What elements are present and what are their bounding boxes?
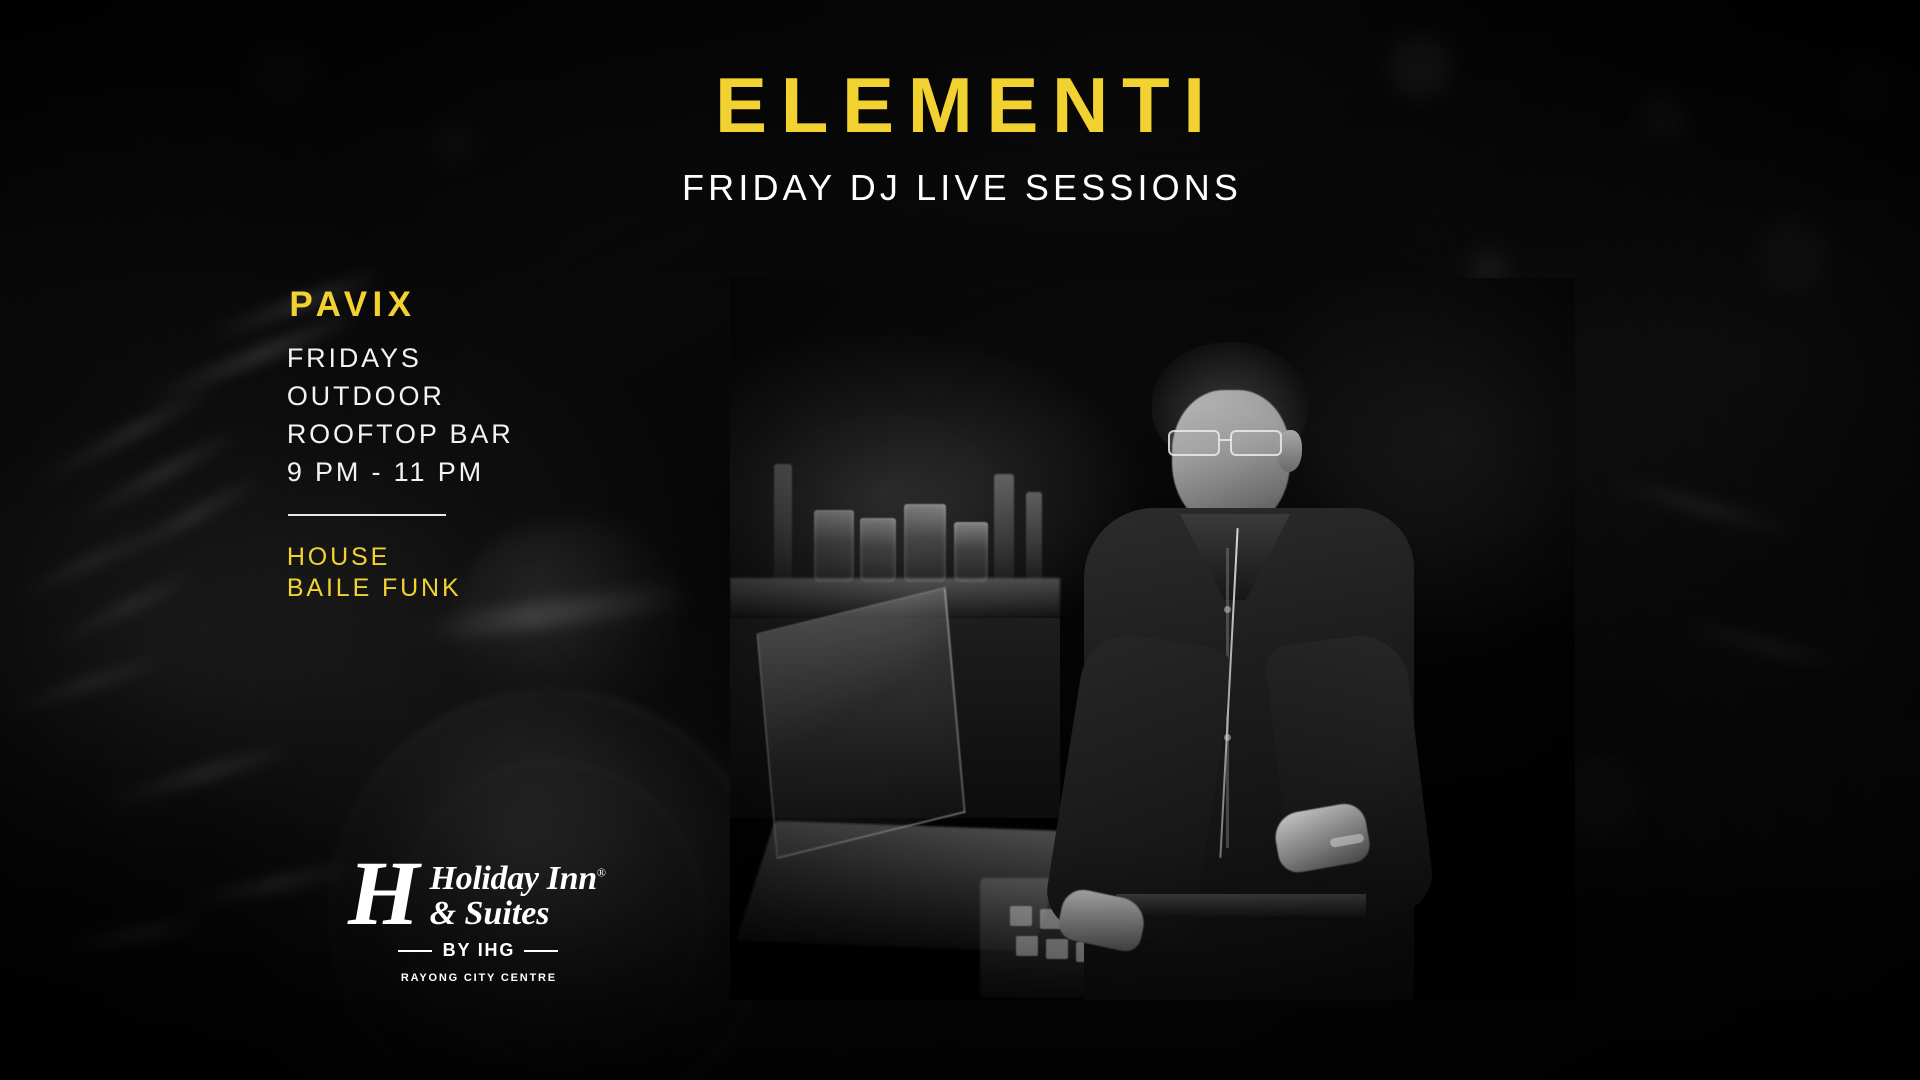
page-subtitle: FRIDAY DJ LIVE SESSIONS: [0, 170, 1920, 206]
list-item: 9 PM - 11 PM: [284, 457, 514, 489]
logo-rule-right: [524, 950, 558, 952]
list-item: OUTDOOR: [284, 381, 514, 413]
dj-photo: [730, 278, 1575, 1000]
property-location-label: RAYONG CITY CENTRE: [348, 972, 608, 984]
section-divider: [288, 514, 446, 516]
logo-brand-name: Holiday Inn: [430, 860, 597, 897]
poster-header: ELEMENTI FRIDAY DJ LIVE SESSIONS: [0, 66, 1920, 206]
music-genre-list: HOUSE BAILE FUNK: [284, 542, 514, 603]
artist-name: PAVIX: [284, 287, 514, 322]
event-info-block: PAVIX FRIDAYS OUTDOOR ROOFTOP BAR 9 PM -…: [284, 287, 514, 603]
holiday-inn-logo: H Holiday Inn® & Suites BY IHG RAYONG CI…: [348, 862, 608, 984]
list-item: ROOFTOP BAR: [284, 419, 514, 451]
event-poster: ELEMENTI FRIDAY DJ LIVE SESSIONS PAVIX F…: [0, 0, 1920, 1080]
trademark-icon: ®: [597, 866, 606, 880]
logo-line-one: Holiday Inn®: [430, 862, 606, 897]
holiday-inn-h-monogram-icon: H: [348, 856, 420, 931]
photo-vignette: [730, 278, 1575, 1000]
page-title: ELEMENTI: [0, 66, 1920, 144]
list-item: BAILE FUNK: [284, 573, 514, 604]
event-details-list: FRIDAYS OUTDOOR ROOFTOP BAR 9 PM - 11 PM: [284, 343, 514, 488]
logo-line-two: & Suites: [430, 897, 606, 932]
logo-rule-left: [398, 950, 432, 952]
list-item: FRIDAYS: [284, 343, 514, 375]
by-ihg-label: BY IHG: [441, 940, 515, 961]
list-item: HOUSE: [284, 542, 514, 573]
